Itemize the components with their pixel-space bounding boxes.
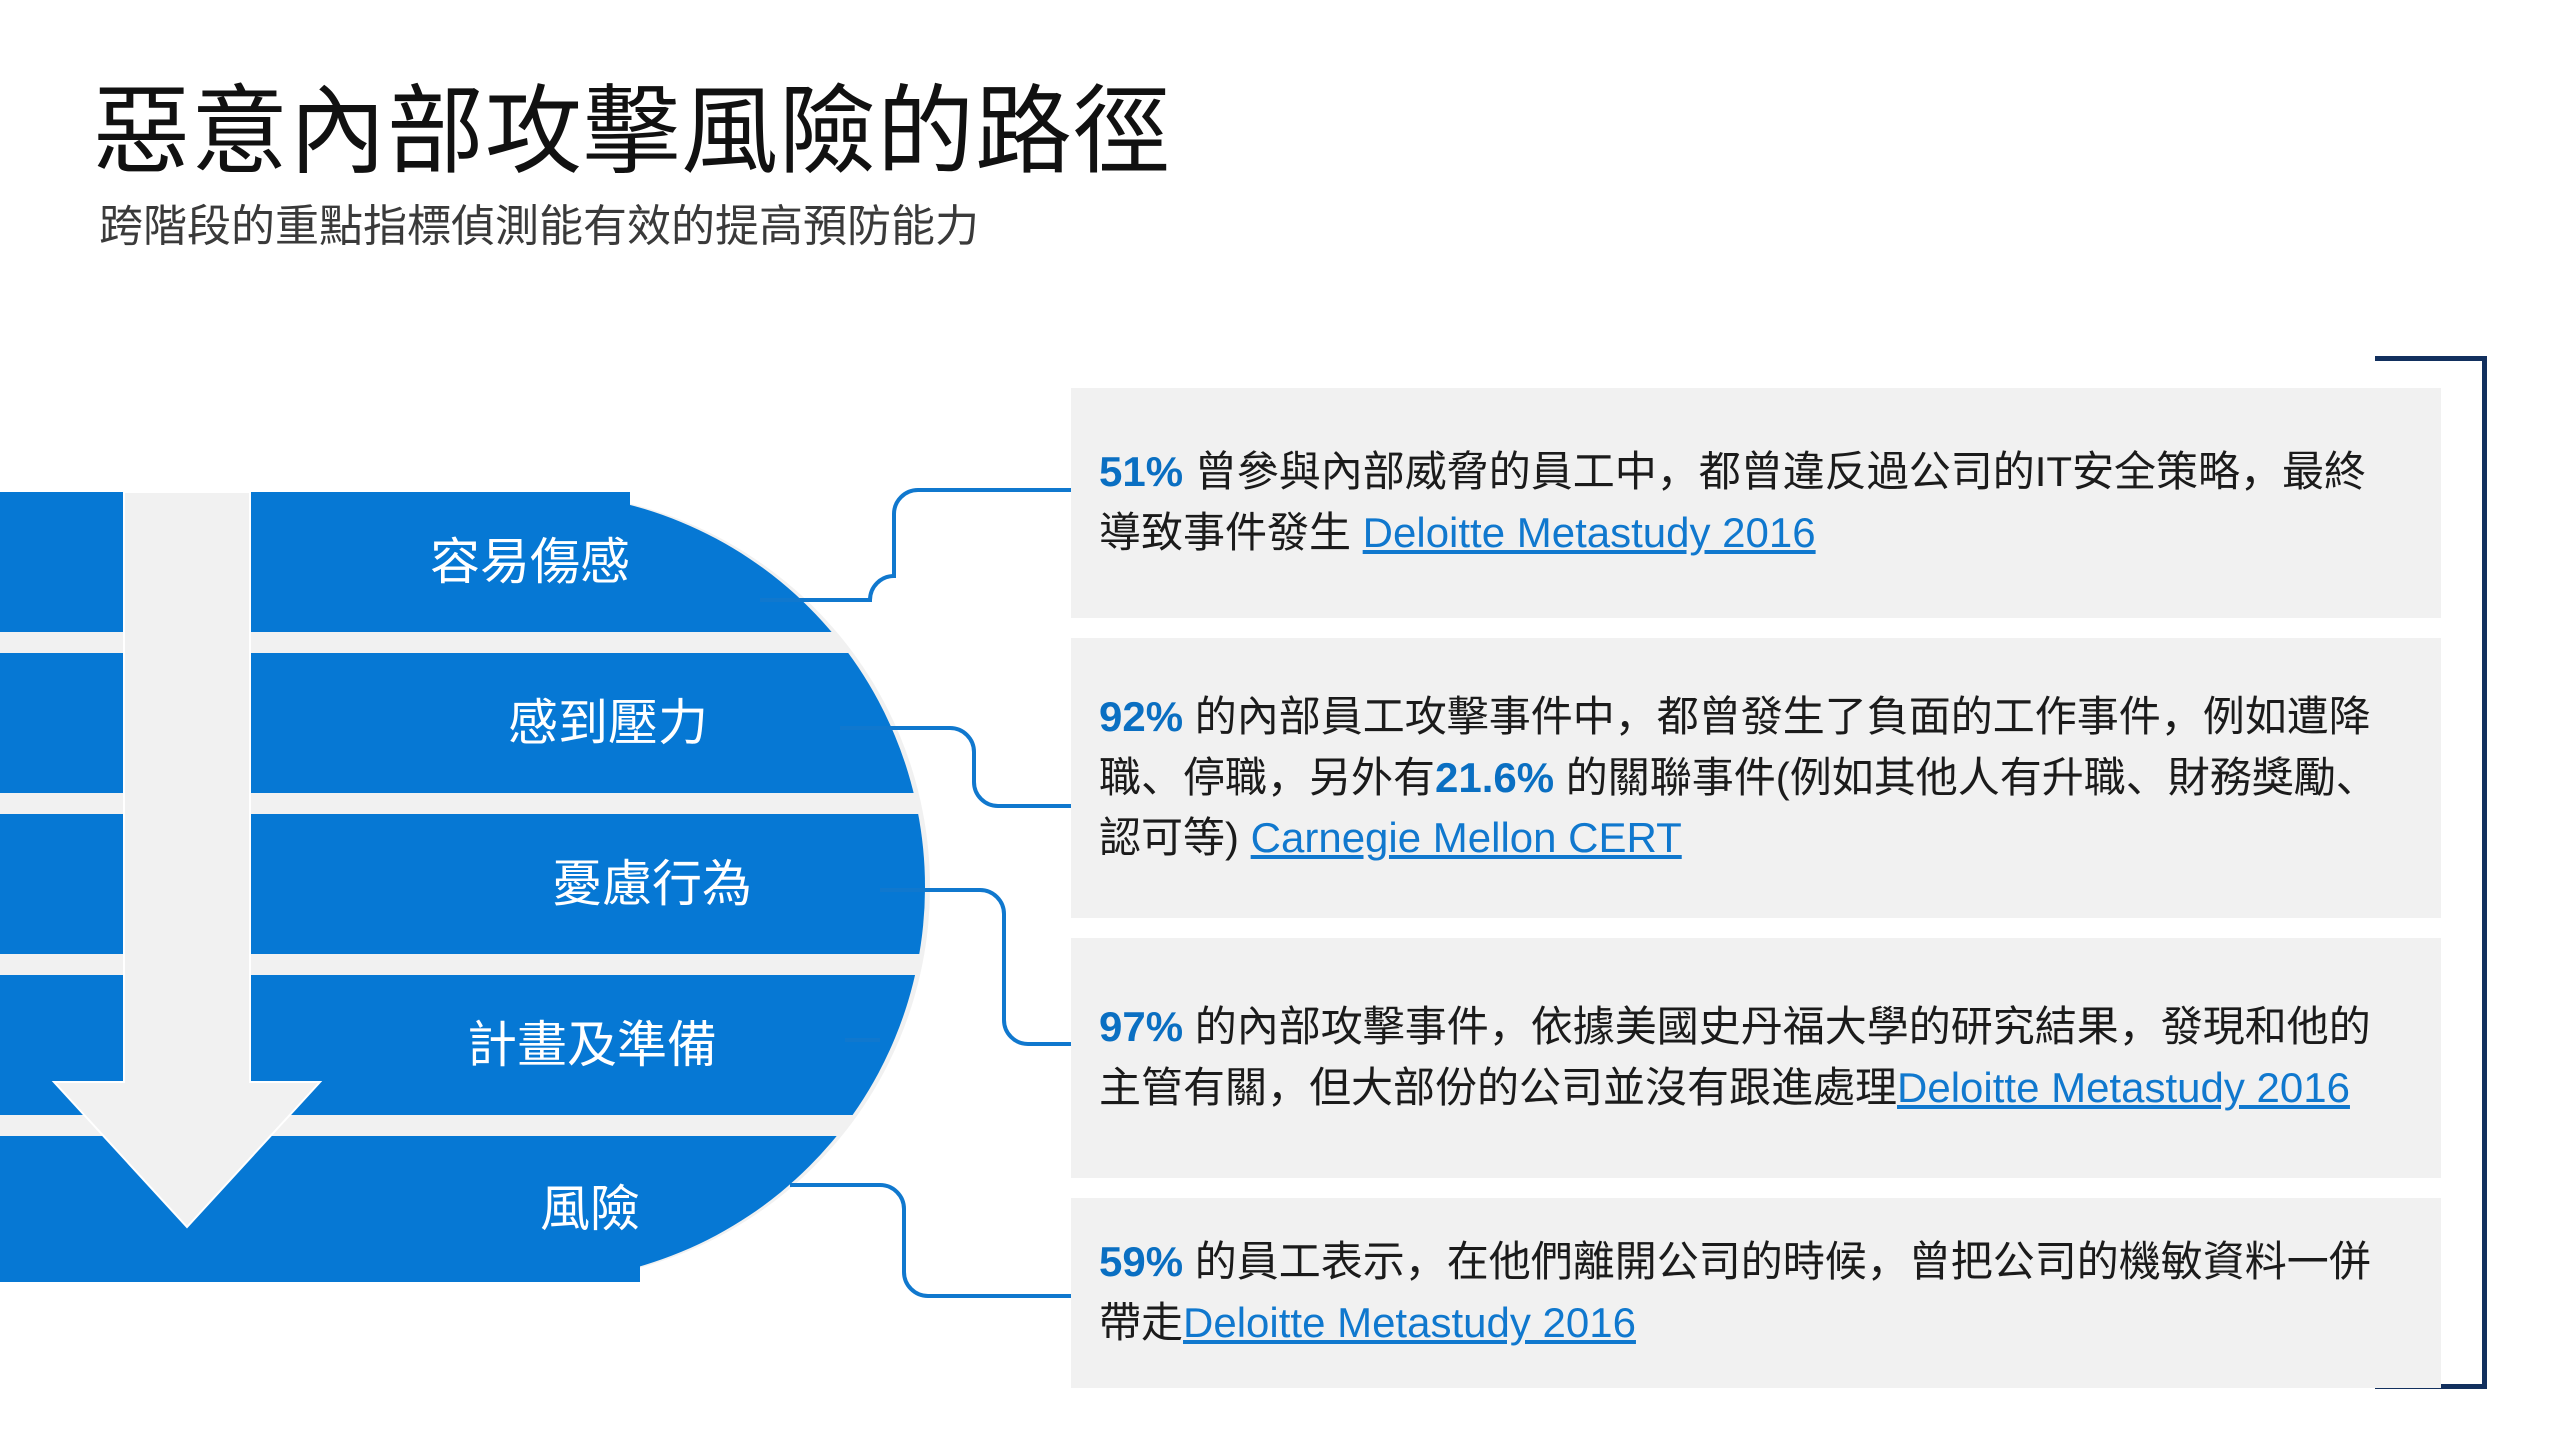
funnel-stage-5-label: 風險 (540, 1184, 640, 1234)
callout-1-link[interactable]: Deloitte Metastudy 2016 (1363, 509, 1816, 556)
funnel-stage-2[interactable]: 感到壓力 (0, 653, 708, 793)
callout-1-stat: 51% (1099, 448, 1183, 495)
funnel-stage-5[interactable]: 風險 (0, 1136, 640, 1282)
funnel-bands: 容易傷感 感到壓力 憂慮行為 計畫及準備 風險 (0, 492, 930, 1282)
callout-4-stat: 59% (1099, 1238, 1183, 1285)
funnel-stage-2-label: 感到壓力 (508, 698, 708, 748)
callout-2-stat: 92% (1099, 693, 1183, 740)
callout-box-1[interactable]: 51% 曾參與內部威脅的員工中，都曾違反過公司的IT安全策略，最終導致事件發生 … (1071, 388, 2441, 618)
callout-box-2[interactable]: 92% 的內部員工攻擊事件中，都曾發生了負面的工作事件，例如遭降職、停職，另外有… (1071, 638, 2441, 918)
funnel-stage-1-label: 容易傷感 (430, 537, 630, 587)
callout-2-link[interactable]: Carnegie Mellon CERT (1251, 814, 1682, 861)
funnel-stage-1[interactable]: 容易傷感 (0, 492, 630, 632)
funnel-stage-4[interactable]: 計畫及準備 (0, 975, 717, 1115)
callout-box-4[interactable]: 59% 的員工表示，在他們離開公司的時候，曾把公司的機敏資料一併帶走Deloit… (1071, 1198, 2441, 1388)
funnel-stage-4-label: 計畫及準備 (467, 1020, 717, 1070)
funnel-stage-3[interactable]: 憂慮行為 (0, 814, 752, 954)
header-block: 惡意內部攻擊風險的路徑 跨階段的重點指標偵測能有效的提高預防能力 (93, 78, 1171, 254)
callout-3-link[interactable]: Deloitte Metastudy 2016 (1897, 1064, 2350, 1111)
callout-3-stat: 97% (1099, 1003, 1183, 1050)
callout-4-link[interactable]: Deloitte Metastudy 2016 (1183, 1299, 1636, 1346)
callout-2-stat-2: 21.6% (1435, 754, 1554, 801)
page-subtitle: 跨階段的重點指標偵測能有效的提高預防能力 (99, 199, 1171, 254)
slide-canvas: 惡意內部攻擊風險的路徑 跨階段的重點指標偵測能有效的提高預防能力 (0, 0, 2559, 1439)
callout-box-3[interactable]: 97% 的內部攻擊事件，依據美國史丹福大學的研究結果，發現和他的主管有關，但大部… (1071, 938, 2441, 1178)
funnel-stage-3-label: 憂慮行為 (552, 859, 752, 909)
funnel-diagram: 容易傷感 感到壓力 憂慮行為 計畫及準備 風險 (0, 492, 940, 1282)
page-title: 惡意內部攻擊風險的路徑 (93, 78, 1171, 187)
